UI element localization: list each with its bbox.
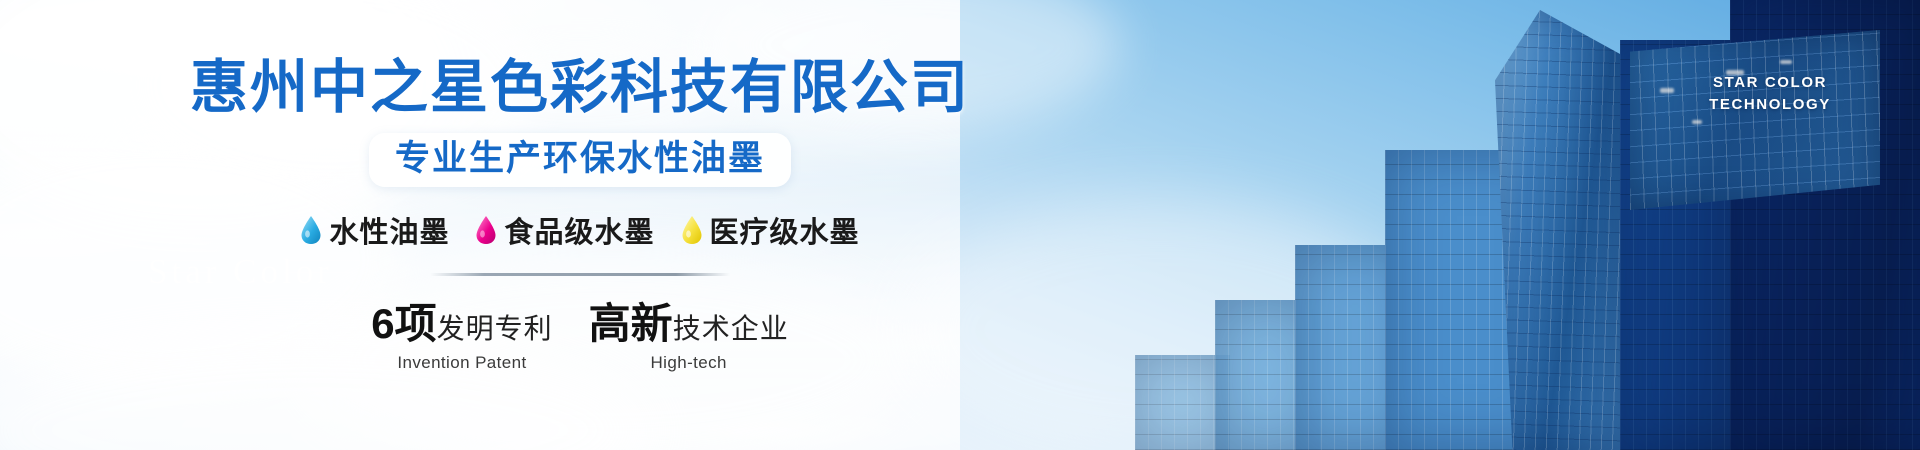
building-brand-line-2: TECHNOLOGY: [1680, 94, 1860, 116]
feature-label: 医疗级水墨: [710, 209, 860, 251]
credential-english: Invention Patent: [397, 353, 526, 373]
company-hero-banner: Star Color STAR COLOR TECHNOLOGY 惠州中之星色彩…: [0, 0, 1920, 450]
credential-highlight: 高新: [589, 290, 673, 351]
credentials-list: 6项 发明专利 Invention Patent 高新 技术企业 High-te…: [371, 290, 788, 373]
credential-text: 发明专利: [437, 307, 553, 347]
credential-highlight: 6项: [371, 290, 436, 351]
credential-item: 6项 发明专利 Invention Patent: [371, 290, 552, 373]
feature-item: 水性油墨: [300, 209, 449, 251]
feature-label: 食品级水墨: [504, 209, 654, 251]
building-brand-label: STAR COLOR TECHNOLOGY: [1680, 72, 1860, 116]
feature-item: 食品级水墨: [475, 209, 654, 251]
feature-label: 水性油墨: [329, 209, 449, 251]
product-feature-list: 水性油墨 食品级水墨: [300, 209, 859, 251]
credential-text: 技术企业: [673, 307, 789, 347]
credential-headline: 6项 发明专利: [371, 290, 552, 351]
subtitle-text: 专业生产环保水性油墨: [395, 139, 765, 178]
banner-content: 惠州中之星色彩科技有限公司 专业生产环保水性油墨 水性油墨: [0, 0, 1160, 450]
section-divider: [430, 273, 730, 276]
building-brand-line-1: STAR COLOR: [1680, 72, 1860, 94]
credential-english: High-tech: [651, 353, 727, 373]
credential-headline: 高新 技术企业: [589, 290, 789, 351]
subtitle-pill: 专业生产环保水性油墨: [369, 133, 791, 188]
water-drop-icon: [681, 215, 703, 245]
feature-item: 医疗级水墨: [681, 209, 860, 251]
credential-item: 高新 技术企业 High-tech: [589, 290, 789, 373]
tower-shape: [1495, 10, 1620, 450]
glass-facade-panel: [1630, 30, 1880, 210]
company-title: 惠州中之星色彩科技有限公司: [190, 58, 970, 119]
water-drop-icon: [300, 215, 322, 245]
water-drop-icon: [475, 215, 497, 245]
